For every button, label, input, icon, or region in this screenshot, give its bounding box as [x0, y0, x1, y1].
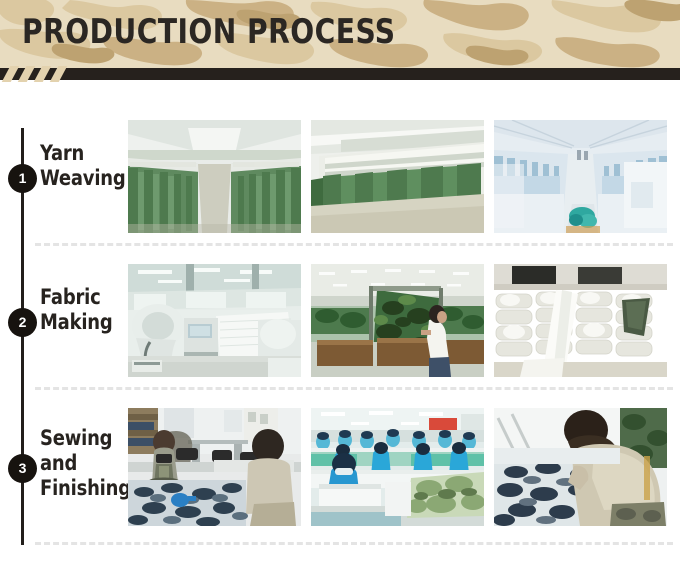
process-step-row-2: 2 Fabric Making: [0, 264, 680, 380]
slash-decoration-3: [34, 66, 52, 82]
photo-weaving-looms: [128, 264, 301, 377]
slash-decoration-4: [50, 66, 68, 82]
section-divider-1: [35, 243, 673, 246]
photo-spinning-bobbins: [311, 120, 484, 233]
photo-fabric-roll-warehouse: [494, 264, 667, 377]
process-step-row-3: 3 Sewing and Finishing: [0, 408, 680, 529]
step-number-badge-2: 2: [8, 308, 37, 337]
step-label-line: and: [40, 451, 122, 476]
photo-fabric-cutting: [128, 408, 301, 526]
photo-camo-fabric-inspection: [311, 264, 484, 377]
step-label-1: Yarn Weaving: [40, 141, 122, 191]
step-label-line: Weaving: [40, 166, 122, 191]
step-label-line: Making: [40, 310, 122, 335]
photo-yarn-spinning-aisle: [494, 120, 667, 233]
photo-finishing-worker: [494, 408, 667, 526]
slash-decoration-1: [2, 66, 20, 82]
process-step-row-1: 1 Yarn Weaving: [0, 120, 680, 236]
step-label-2: Fabric Making: [40, 285, 122, 335]
photo-yarn-weaving-hall: [128, 120, 301, 233]
production-process-page: PRODUCTION PROCESS 1 Yarn Weaving: [0, 0, 680, 581]
slash-decoration-2: [18, 66, 36, 82]
photo-sewing-line: [311, 408, 484, 526]
page-header: PRODUCTION PROCESS: [0, 0, 680, 68]
header-accent-bar: [0, 68, 680, 80]
page-title: PRODUCTION PROCESS: [22, 12, 396, 52]
section-divider-2: [35, 387, 673, 390]
step-number-badge-1: 1: [8, 164, 37, 193]
step-label-3: Sewing and Finishing: [40, 426, 122, 501]
step-label-line: Fabric: [40, 285, 122, 310]
step-label-line: Sewing: [40, 426, 122, 451]
step-label-line: Yarn: [40, 141, 122, 166]
step-label-line: Finishing: [40, 476, 122, 501]
section-divider-3: [35, 542, 673, 545]
step-number-badge-3: 3: [8, 454, 37, 483]
